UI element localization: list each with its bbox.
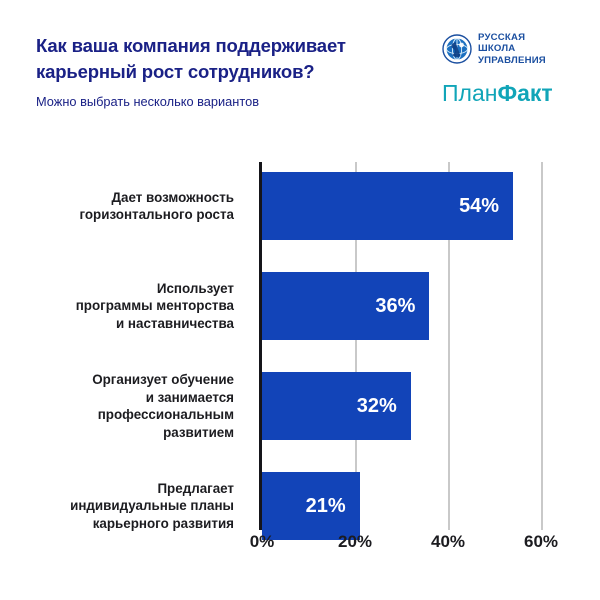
gridline bbox=[541, 162, 543, 530]
bar-value-label: 36% bbox=[375, 295, 429, 318]
bar[interactable]: 21% bbox=[262, 472, 360, 540]
planfact-logo-part-2: Факт bbox=[497, 80, 552, 106]
page-title: Как ваша компания поддерживает карьерный… bbox=[36, 33, 436, 85]
category-label-line: Предлагает bbox=[157, 481, 234, 496]
page-title-line-1: Как ваша компания поддерживает bbox=[36, 35, 346, 56]
bar-row: 21% bbox=[262, 472, 541, 540]
x-tick-label: 20% bbox=[338, 532, 372, 552]
bar[interactable]: 54% bbox=[262, 172, 513, 240]
bar-value-label: 54% bbox=[459, 195, 513, 218]
bar-value-label: 21% bbox=[306, 495, 360, 518]
bar-row: 32% bbox=[262, 372, 541, 440]
bar[interactable]: 36% bbox=[262, 272, 429, 340]
bar[interactable]: 32% bbox=[262, 372, 411, 440]
bar-chart: Дает возможностьгоризонтального ростаИсп… bbox=[0, 150, 600, 570]
category-label: Организует обучениеи занимаетсяпрофессио… bbox=[0, 371, 248, 441]
x-tick-label: 40% bbox=[431, 532, 465, 552]
category-label: Предлагаетиндивидуальные планыкарьерного… bbox=[0, 480, 248, 533]
logo-area: РУССКАЯ ШКОЛА УПРАВЛЕНИЯ ПланФакт bbox=[442, 28, 578, 106]
category-label-line: профессиональным bbox=[98, 407, 234, 422]
category-label-line: горизонтального роста bbox=[79, 207, 234, 222]
rsu-wordmark: РУССКАЯ ШКОЛА УПРАВЛЕНИЯ bbox=[478, 32, 546, 67]
bar-row: 54% bbox=[262, 172, 541, 240]
category-label-line: индивидуальные планы bbox=[70, 498, 234, 513]
header: Как ваша компания поддерживает карьерный… bbox=[0, 0, 600, 140]
rsu-line-2: ШКОЛА bbox=[478, 43, 546, 55]
bar-value-label: 32% bbox=[357, 395, 411, 418]
category-label-line: карьерного развития bbox=[93, 516, 234, 531]
rsu-logo: РУССКАЯ ШКОЛА УПРАВЛЕНИЯ bbox=[442, 28, 578, 70]
x-axis-tick-labels: 0%20%40%60% bbox=[262, 532, 541, 562]
page-title-line-2: карьерный рост сотрудников? bbox=[36, 61, 314, 82]
category-label-line: Дает возможность bbox=[112, 190, 234, 205]
category-label-line: Использует bbox=[157, 281, 234, 296]
bar-row: 36% bbox=[262, 272, 541, 340]
page-subtitle: Можно выбрать несколько вариантов bbox=[36, 93, 436, 110]
category-label-line: и наставничества bbox=[116, 316, 234, 331]
category-label-line: и занимается bbox=[146, 390, 234, 405]
title-block: Как ваша компания поддерживает карьерный… bbox=[36, 33, 436, 110]
rsu-line-3: УПРАВЛЕНИЯ bbox=[478, 55, 546, 67]
x-tick-label: 60% bbox=[524, 532, 558, 552]
category-label-line: Организует обучение bbox=[92, 372, 234, 387]
plot-area: 54%36%32%21% bbox=[262, 162, 541, 530]
planfact-logo: ПланФакт bbox=[442, 80, 578, 106]
planfact-logo-part-1: План bbox=[442, 80, 497, 106]
category-label: Используетпрограммы менторстваи наставни… bbox=[0, 280, 248, 333]
globe-emblem-icon bbox=[442, 34, 472, 64]
category-label-line: развитием bbox=[163, 425, 234, 440]
category-label-axis: Дает возможностьгоризонтального ростаИсп… bbox=[0, 162, 248, 530]
category-label-line: программы менторства bbox=[76, 298, 234, 313]
x-tick-label: 0% bbox=[250, 532, 275, 552]
category-label: Дает возможностьгоризонтального роста bbox=[0, 189, 248, 224]
rsu-line-1: РУССКАЯ bbox=[478, 32, 546, 44]
